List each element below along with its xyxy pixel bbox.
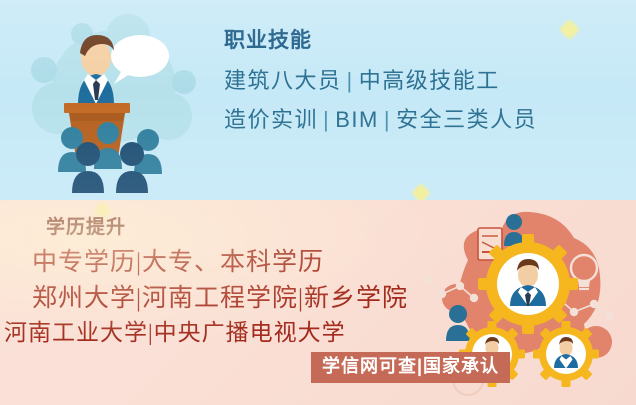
- separator-3: |: [379, 107, 396, 132]
- verification-badge[interactable]: 学信网可查|国家承认: [311, 352, 510, 383]
- skills-item-safety-three-categories: 安全三类人员: [396, 107, 537, 132]
- vocational-skills-line-2: 造价实训|BIM|安全三类人员: [224, 108, 624, 131]
- skills-item-bim: BIM: [335, 107, 379, 132]
- sparkle-mid-icon: [411, 183, 431, 200]
- separator-1: |: [342, 68, 359, 93]
- degree-upgrade-text-block: 学历提升 中专学历|大专、本科学历 郑州大学|河南工程学院|新乡学院 河南工业大…: [18, 218, 448, 346]
- degree-line-2: 郑州大学|河南工程学院|新乡学院: [32, 285, 448, 312]
- speaker-podium-audience-illustration: [18, 8, 208, 193]
- skills-item-construction-eight: 建筑八大员: [224, 68, 342, 93]
- vocational-skills-line-1: 建筑八大员|中高级技能工: [224, 69, 624, 92]
- degree-line-3: 河南工业大学|中央广播电视大学: [4, 321, 448, 346]
- separator-2: |: [318, 107, 335, 132]
- vocational-skills-heading: 职业技能: [224, 30, 624, 51]
- vocational-skills-panel[interactable]: 职业技能 建筑八大员|中高级技能工 造价实训|BIM|安全三类人员: [0, 0, 636, 200]
- skills-item-cost-training: 造价实训: [224, 107, 318, 132]
- gear-small-right: [533, 321, 599, 387]
- gear-large: [478, 234, 578, 334]
- degree-line-1: 中专学历|大专、本科学历: [32, 249, 448, 276]
- vocational-skills-text-block: 职业技能 建筑八大员|中高级技能工 造价实训|BIM|安全三类人员: [224, 30, 624, 147]
- degree-upgrade-heading: 学历提升: [46, 218, 448, 237]
- promo-banner: 职业技能 建筑八大员|中高级技能工 造价实训|BIM|安全三类人员: [0, 0, 636, 405]
- skills-item-mid-senior-technician: 中高级技能工: [359, 68, 500, 93]
